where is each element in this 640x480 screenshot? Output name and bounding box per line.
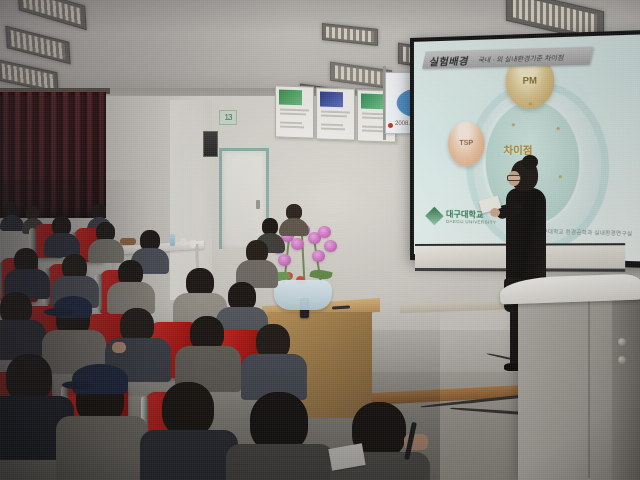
lectern-edge (588, 292, 590, 478)
room-number-sign: 13 (219, 110, 237, 125)
lectern-knob[interactable] (618, 338, 626, 346)
lectern-knob[interactable] (618, 356, 626, 364)
diagram-bubble-tsp: TSP (448, 121, 485, 166)
bubble-tsp-label: TSP (448, 140, 485, 147)
ceiling-light-icon (17, 0, 87, 30)
lecture-hall-photo: 13 대구 대 2008. 11. 차이점 (0, 0, 640, 480)
slide-title: 실험배경 (428, 52, 470, 68)
ceiling-light-icon (322, 23, 378, 46)
diagram-dot (512, 123, 515, 126)
bubble-pm-label: PM (506, 75, 555, 86)
presenter-hair-bun (522, 155, 538, 169)
lectern-side-panel (612, 288, 640, 480)
diagram-dot (557, 127, 560, 130)
wall-poster (275, 85, 314, 138)
wall-speaker-icon (203, 131, 218, 157)
wall-shadow (0, 96, 200, 396)
slide-subtitle: 국내 · 외 실내환경기준 차이점 (477, 52, 565, 65)
presenter-hand (490, 208, 500, 217)
ceiling-light-icon (5, 26, 70, 65)
wall-poster (316, 87, 355, 140)
eyeglasses-icon (507, 175, 521, 181)
diagram-dot (559, 175, 562, 178)
diagram-dot (529, 102, 532, 105)
banner-dot-icon (388, 123, 393, 128)
